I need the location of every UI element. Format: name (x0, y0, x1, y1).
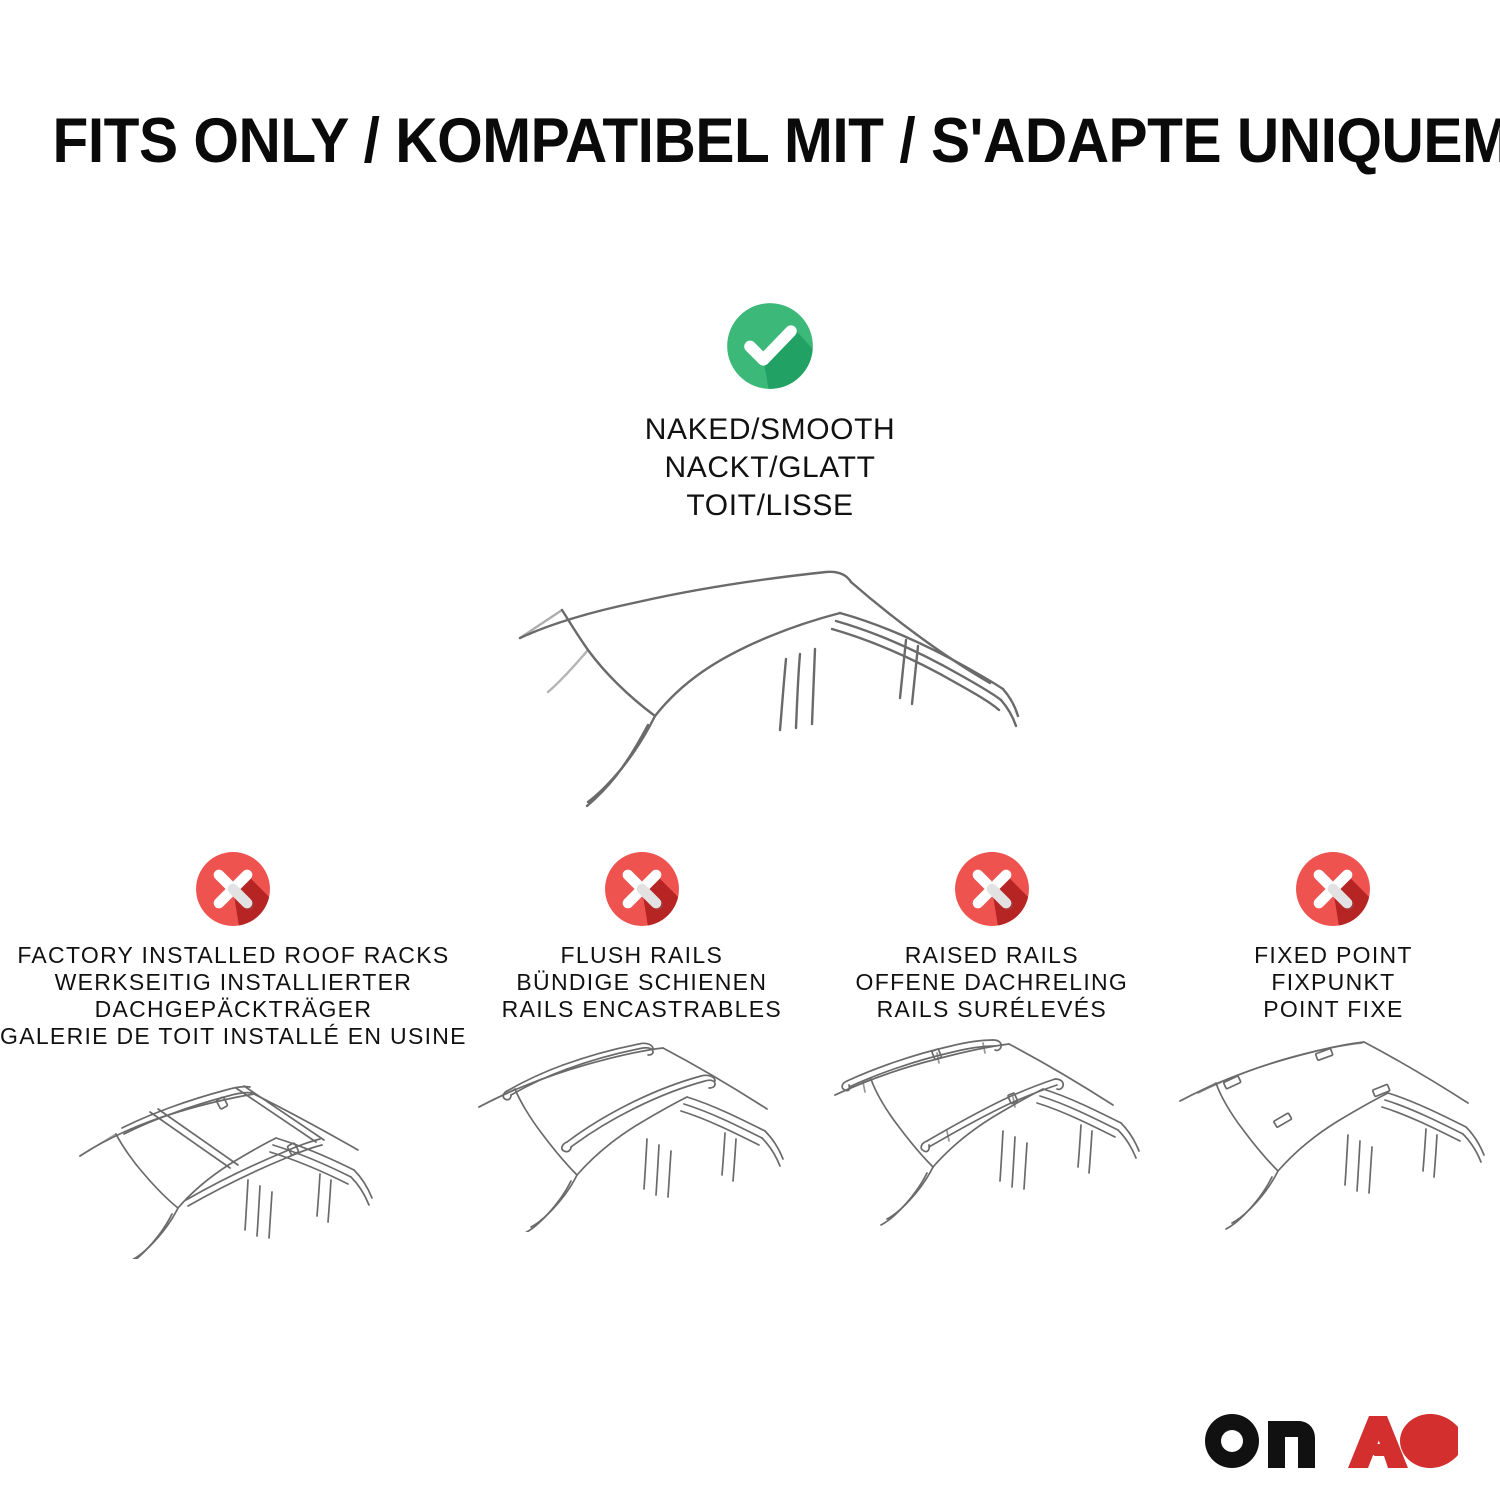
naked-smooth-roof-illustration (470, 520, 1050, 810)
roof-type-labels: FLUSH RAILS BÜNDIGE SCHIENEN RAILS ENCAS… (502, 942, 782, 1023)
label-fr: RAILS SURÉLEVÉS (856, 996, 1129, 1023)
omac-logo: OMAC (1202, 1410, 1462, 1472)
label-en: FACTORY INSTALLED ROOF RACKS (0, 942, 467, 969)
roof-compatibility-infographic: FITS ONLY / KOMPATIBEL MIT / S'ADAPTE UN… (0, 0, 1500, 1500)
raised-rails-illustration (817, 1037, 1167, 1232)
fixed-point-illustration (1168, 1037, 1498, 1232)
page-title: FITS ONLY / KOMPATIBEL MIT / S'ADAPTE UN… (53, 105, 1448, 177)
label-en: FIXED POINT (1254, 942, 1413, 969)
roof-type-factory-roof-racks: FACTORY INSTALLED ROOF RACKS WERKSEITIG … (0, 845, 467, 1259)
cross-circle-icon (948, 845, 1036, 933)
label-de-line1: WERKSEITIG INSTALLIERTER (0, 969, 467, 996)
cross-circle-icon (598, 845, 686, 933)
flush-rails-illustration (467, 1037, 817, 1232)
approved-label-en: NAKED/SMOOTH (450, 411, 1090, 449)
roof-type-fixed-point: FIXED POINT FIXPUNKT POINT FIXE (1167, 845, 1500, 1232)
label-de: FIXPUNKT (1254, 969, 1413, 996)
roof-type-labels: FIXED POINT FIXPUNKT POINT FIXE (1254, 942, 1413, 1023)
factory-roof-rack-illustration (58, 1064, 408, 1259)
label-en: RAISED RAILS (856, 942, 1129, 969)
roof-type-labels: FACTORY INSTALLED ROOF RACKS WERKSEITIG … (0, 942, 467, 1050)
label-de-line2: DACHGEPÄCKTRÄGER (0, 996, 467, 1023)
approved-roof-type: NAKED/SMOOTH NACKT/GLATT TOIT/LISSE (450, 295, 1090, 525)
approved-label-de: NACKT/GLATT (450, 449, 1090, 487)
check-circle-icon (719, 295, 821, 397)
label-fr: RAILS ENCASTRABLES (502, 996, 782, 1023)
cross-circle-icon (1289, 845, 1377, 933)
roof-type-raised-rails: RAISED RAILS OFFENE DACHRELING RAILS SUR… (817, 845, 1167, 1232)
label-de: BÜNDIGE SCHIENEN (502, 969, 782, 996)
label-de: OFFENE DACHRELING (856, 969, 1129, 996)
approved-label-fr: TOIT/LISSE (450, 487, 1090, 525)
label-fr: POINT FIXE (1254, 996, 1413, 1023)
approved-roof-labels: NAKED/SMOOTH NACKT/GLATT TOIT/LISSE (450, 411, 1090, 525)
omac-wordmark (1202, 1410, 1462, 1472)
cross-circle-icon (189, 845, 277, 933)
label-fr: GALERIE DE TOIT INSTALLÉ EN USINE (0, 1023, 467, 1050)
roof-type-labels: RAISED RAILS OFFENE DACHRELING RAILS SUR… (856, 942, 1129, 1023)
label-en: FLUSH RAILS (502, 942, 782, 969)
roof-type-flush-rails: FLUSH RAILS BÜNDIGE SCHIENEN RAILS ENCAS… (467, 845, 817, 1232)
incompatible-roof-types: FACTORY INSTALLED ROOF RACKS WERKSEITIG … (0, 845, 1500, 1259)
